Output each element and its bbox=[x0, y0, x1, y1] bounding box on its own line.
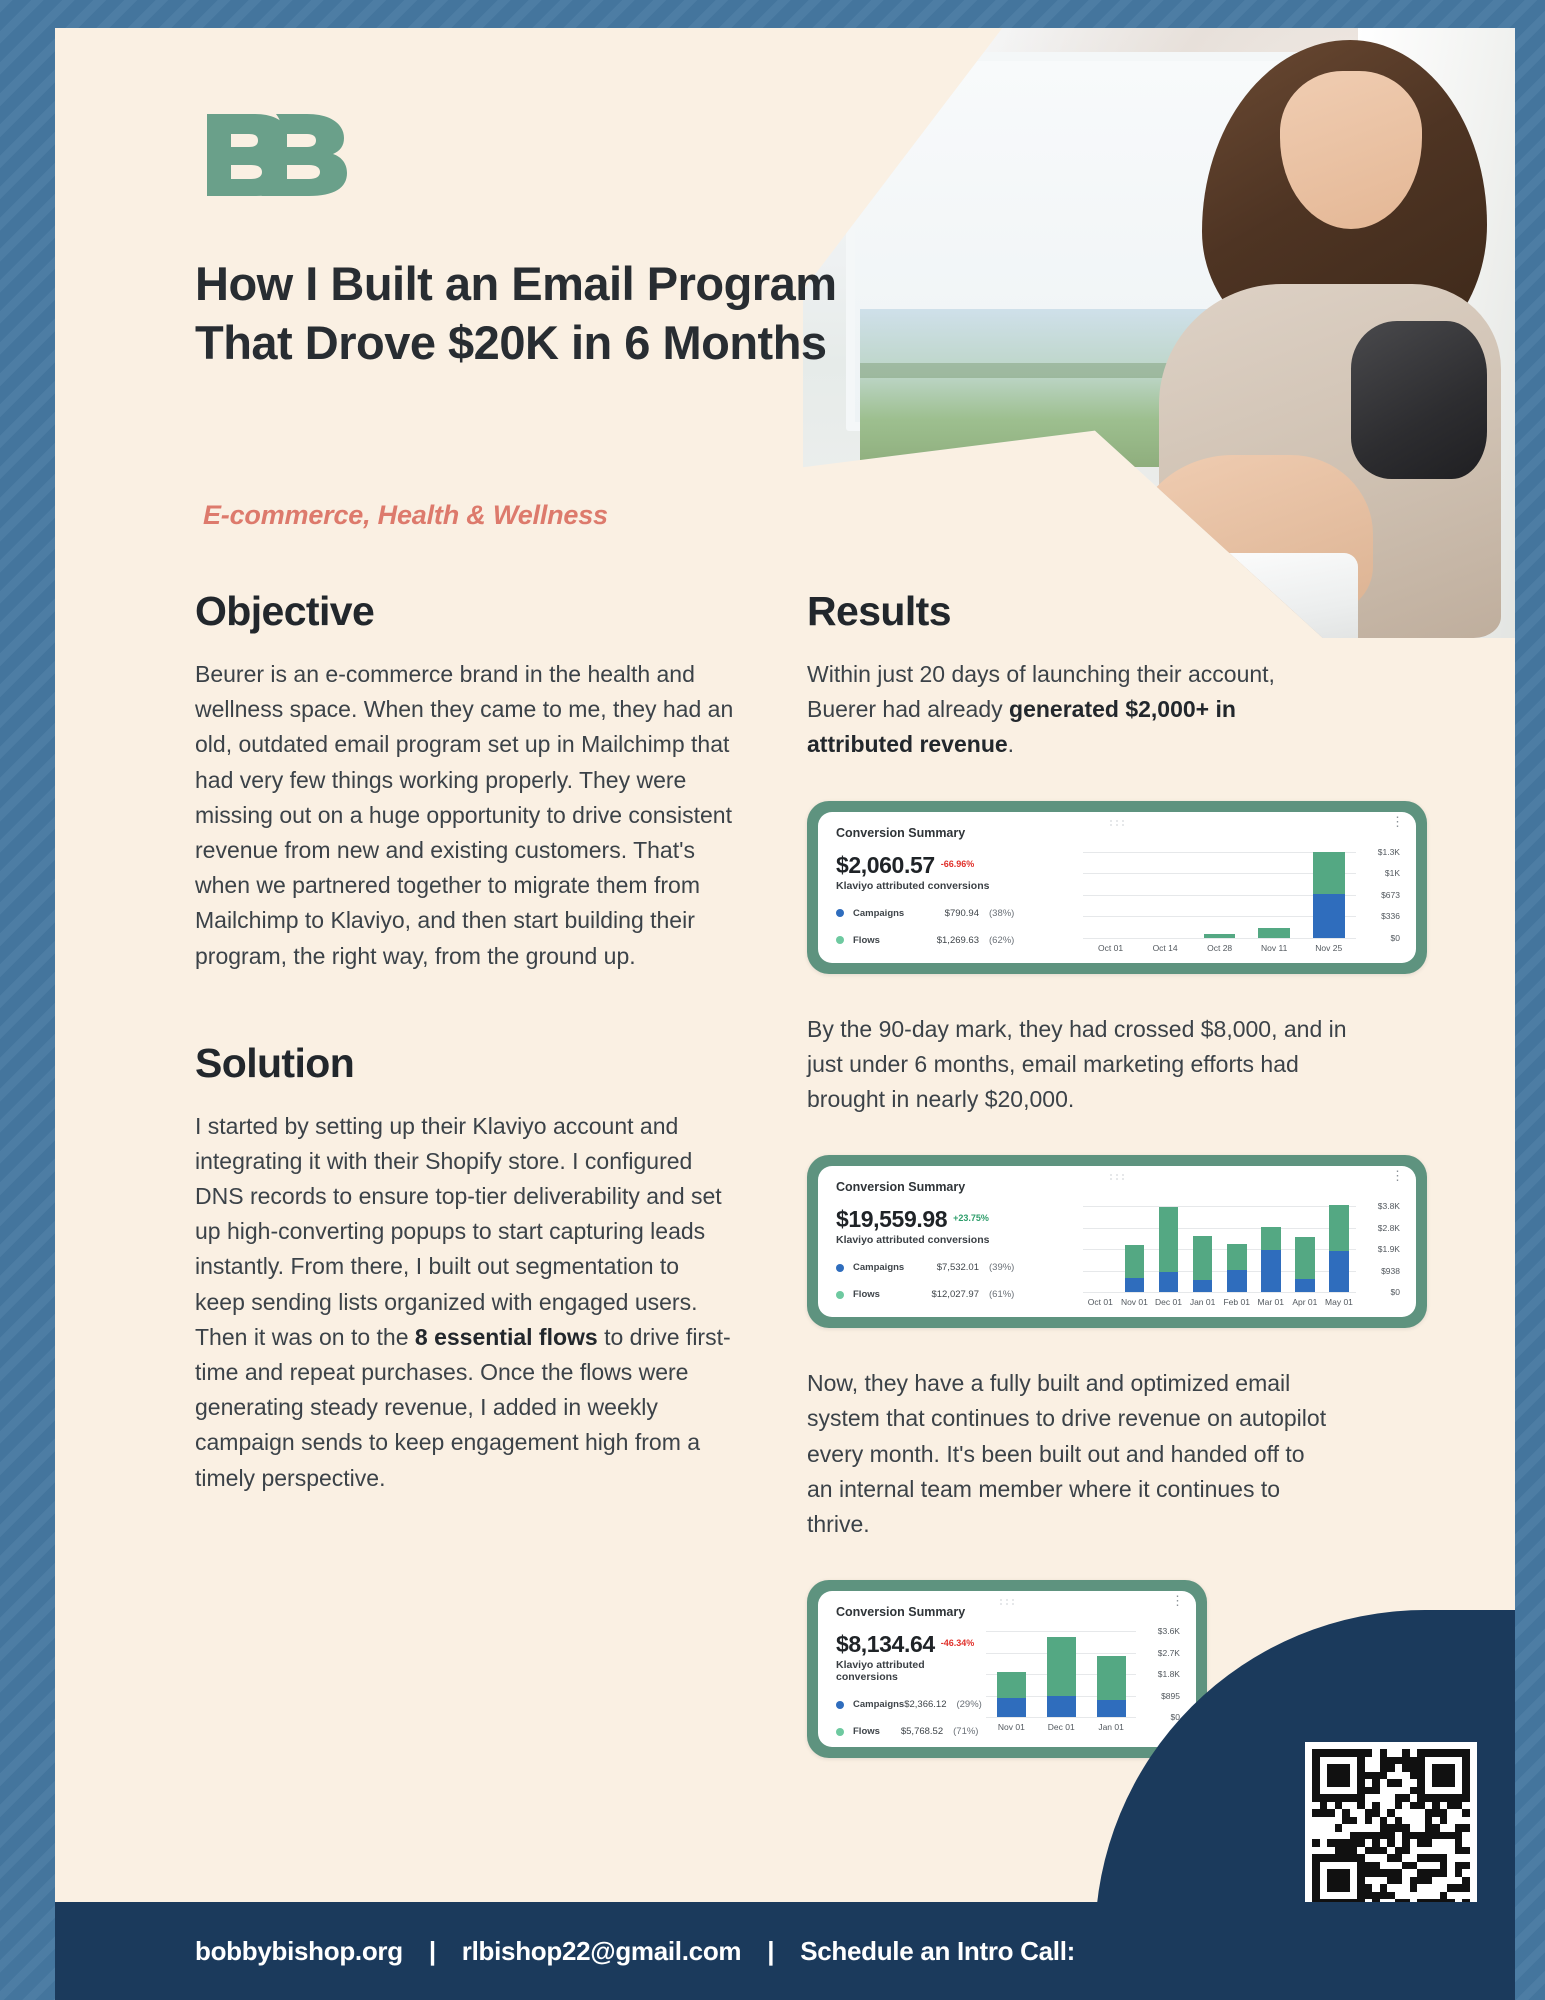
qr-cell bbox=[1342, 1749, 1350, 1757]
qr-cell bbox=[1365, 1794, 1373, 1802]
bar-segment-flows bbox=[1227, 1244, 1247, 1270]
qr-cell bbox=[1402, 1884, 1410, 1892]
qr-cell bbox=[1395, 1824, 1403, 1832]
qr-cell bbox=[1462, 1839, 1470, 1847]
legend-label-campaigns: Campaigns bbox=[853, 1699, 904, 1710]
legend-dot-campaigns-icon bbox=[836, 1701, 844, 1709]
qr-cell bbox=[1455, 1779, 1463, 1787]
qr-cell bbox=[1440, 1749, 1448, 1757]
qr-cell bbox=[1455, 1869, 1463, 1877]
qr-cell bbox=[1440, 1787, 1448, 1795]
x-axis-tick-label: Jan 01 bbox=[1086, 1722, 1136, 1732]
qr-cell bbox=[1372, 1757, 1380, 1765]
x-axis-tick-label: Apr 01 bbox=[1288, 1297, 1322, 1307]
klaviyo-card-3[interactable]: ⋮ Conversion Summary $8,134.64-46.34% Kl… bbox=[807, 1580, 1207, 1758]
qr-cell bbox=[1365, 1824, 1373, 1832]
qr-cell bbox=[1357, 1877, 1365, 1885]
legend-value-flows: $12,027.97 bbox=[917, 1289, 979, 1300]
qr-cell bbox=[1335, 1824, 1343, 1832]
bar-slot bbox=[1186, 1206, 1220, 1292]
qr-cell bbox=[1432, 1809, 1440, 1817]
y-axis-tick-label: $1.8K bbox=[1158, 1669, 1180, 1679]
footer-cta: Schedule an Intro Call: bbox=[800, 1936, 1075, 1967]
qr-cell bbox=[1335, 1832, 1343, 1840]
qr-cell bbox=[1327, 1787, 1335, 1795]
legend-dot-flows-icon bbox=[836, 936, 844, 944]
qr-cell bbox=[1402, 1772, 1410, 1780]
qr-cell bbox=[1342, 1809, 1350, 1817]
card-2-x-axis: Oct 01Nov 01Dec 01Jan 01Feb 01Mar 01Apr … bbox=[1083, 1297, 1356, 1307]
qr-cell bbox=[1455, 1749, 1463, 1757]
qr-cell bbox=[1425, 1757, 1433, 1765]
qr-cell bbox=[1425, 1847, 1433, 1855]
qr-cell bbox=[1342, 1854, 1350, 1862]
qr-cell bbox=[1425, 1817, 1433, 1825]
card-2-legend-campaigns: Campaigns $7,532.01 (39%) bbox=[836, 1262, 1075, 1273]
stacked-bar[interactable] bbox=[1227, 1244, 1247, 1292]
qr-cell bbox=[1320, 1824, 1328, 1832]
qr-cell bbox=[1417, 1802, 1425, 1810]
qr-cell bbox=[1365, 1802, 1373, 1810]
qr-cell bbox=[1312, 1854, 1320, 1862]
qr-cell bbox=[1350, 1794, 1358, 1802]
qr-cell bbox=[1417, 1749, 1425, 1757]
poster-page: How I Built an Email Program That Drove … bbox=[55, 28, 1515, 2000]
qr-cell bbox=[1350, 1862, 1358, 1870]
footer-email[interactable]: rlbishop22@gmail.com bbox=[462, 1936, 741, 1967]
bar-segment-flows bbox=[1047, 1637, 1076, 1696]
qr-cell bbox=[1402, 1869, 1410, 1877]
qr-cell bbox=[1365, 1832, 1373, 1840]
qr-cell bbox=[1335, 1802, 1343, 1810]
bar-segment-flows bbox=[997, 1672, 1026, 1699]
x-axis-tick-label: Jan 01 bbox=[1186, 1297, 1220, 1307]
qr-cell bbox=[1395, 1764, 1403, 1772]
drag-handle-icon[interactable] bbox=[1109, 819, 1125, 829]
qr-cell bbox=[1455, 1794, 1463, 1802]
qr-cell bbox=[1425, 1809, 1433, 1817]
qr-cell bbox=[1372, 1862, 1380, 1870]
qr-cell bbox=[1432, 1892, 1440, 1900]
qr-cell bbox=[1372, 1839, 1380, 1847]
qr-code-pattern bbox=[1312, 1749, 1470, 1907]
stacked-bar[interactable] bbox=[1159, 1207, 1179, 1292]
qr-cell bbox=[1350, 1884, 1358, 1892]
y-axis-tick-label: $0 bbox=[1391, 933, 1400, 943]
qr-cell bbox=[1380, 1854, 1388, 1862]
qr-cell bbox=[1342, 1802, 1350, 1810]
qr-cell bbox=[1432, 1757, 1440, 1765]
qr-cell bbox=[1327, 1764, 1335, 1772]
qr-cell bbox=[1395, 1794, 1403, 1802]
qr-cell bbox=[1425, 1787, 1433, 1795]
stacked-bar[interactable] bbox=[1258, 928, 1290, 938]
stacked-bar[interactable] bbox=[1097, 1656, 1126, 1717]
qr-cell bbox=[1357, 1764, 1365, 1772]
qr-cell bbox=[1335, 1779, 1343, 1787]
qr-cell bbox=[1447, 1802, 1455, 1810]
qr-cell bbox=[1455, 1817, 1463, 1825]
legend-label-flows: Flows bbox=[853, 1726, 899, 1737]
qr-cell bbox=[1312, 1764, 1320, 1772]
qr-cell bbox=[1417, 1772, 1425, 1780]
qr-cell bbox=[1365, 1892, 1373, 1900]
objective-body: Beurer is an e-commerce brand in the hea… bbox=[195, 657, 735, 974]
qr-cell bbox=[1462, 1869, 1470, 1877]
solution-heading: Solution bbox=[195, 1040, 735, 1087]
bar-segment-flows bbox=[1097, 1656, 1126, 1700]
qr-cell bbox=[1387, 1854, 1395, 1862]
qr-cell bbox=[1365, 1749, 1373, 1757]
qr-cell bbox=[1425, 1802, 1433, 1810]
x-axis-tick-label: Dec 01 bbox=[1151, 1297, 1185, 1307]
card-2-plot bbox=[1083, 1206, 1356, 1292]
qr-cell bbox=[1312, 1832, 1320, 1840]
qr-cell bbox=[1350, 1772, 1358, 1780]
qr-code[interactable] bbox=[1305, 1742, 1477, 1914]
qr-cell bbox=[1440, 1862, 1448, 1870]
drag-handle-icon[interactable] bbox=[999, 1598, 1015, 1608]
qr-cell bbox=[1312, 1869, 1320, 1877]
klaviyo-card-2[interactable]: ⋮ Conversion Summary $19,559.98+23.75% K… bbox=[807, 1155, 1427, 1328]
qr-cell bbox=[1417, 1884, 1425, 1892]
qr-cell bbox=[1380, 1817, 1388, 1825]
qr-cell bbox=[1410, 1824, 1418, 1832]
legend-value-flows: $1,269.63 bbox=[917, 935, 979, 946]
qr-cell bbox=[1387, 1832, 1395, 1840]
footer-bar: bobbybishop.org | rlbishop22@gmail.com |… bbox=[55, 1902, 1515, 2000]
bar-segment-campaigns bbox=[1227, 1270, 1247, 1292]
qr-cell bbox=[1380, 1787, 1388, 1795]
qr-cell bbox=[1432, 1749, 1440, 1757]
qr-cell bbox=[1327, 1779, 1335, 1787]
bar-segment-flows bbox=[1159, 1207, 1179, 1272]
qr-cell bbox=[1327, 1794, 1335, 1802]
bar-slot bbox=[1117, 1206, 1151, 1292]
qr-cell bbox=[1387, 1809, 1395, 1817]
qr-cell bbox=[1342, 1779, 1350, 1787]
legend-pct-flows: (62%) bbox=[989, 935, 1014, 946]
qr-cell bbox=[1395, 1854, 1403, 1862]
legend-value-campaigns: $2,366.12 bbox=[904, 1699, 946, 1710]
bar-slot bbox=[1254, 1206, 1288, 1292]
x-axis-tick-label: May 01 bbox=[1322, 1297, 1356, 1307]
bar-segment-flows bbox=[1193, 1236, 1213, 1280]
qr-cell bbox=[1395, 1892, 1403, 1900]
qr-cell bbox=[1342, 1817, 1350, 1825]
qr-cell bbox=[1372, 1847, 1380, 1855]
qr-cell bbox=[1440, 1817, 1448, 1825]
qr-cell bbox=[1455, 1772, 1463, 1780]
qr-cell bbox=[1320, 1802, 1328, 1810]
qr-cell bbox=[1425, 1794, 1433, 1802]
qr-cell bbox=[1350, 1869, 1358, 1877]
qr-cell bbox=[1335, 1772, 1343, 1780]
card-menu-icon[interactable]: ⋮ bbox=[1171, 1597, 1184, 1605]
bar-segment-campaigns bbox=[1193, 1280, 1213, 1292]
qr-cell bbox=[1440, 1764, 1448, 1772]
stacked-bar[interactable] bbox=[1193, 1236, 1213, 1292]
qr-cell bbox=[1312, 1877, 1320, 1885]
qr-cell bbox=[1372, 1772, 1380, 1780]
qr-cell bbox=[1455, 1839, 1463, 1847]
qr-cell bbox=[1380, 1772, 1388, 1780]
qr-cell bbox=[1410, 1854, 1418, 1862]
qr-cell bbox=[1395, 1809, 1403, 1817]
results-para-2: By the 90-day mark, they had crossed $8,… bbox=[807, 1012, 1367, 1118]
qr-cell bbox=[1395, 1832, 1403, 1840]
y-axis-tick-label: $938 bbox=[1381, 1266, 1400, 1276]
qr-cell bbox=[1410, 1884, 1418, 1892]
qr-cell bbox=[1425, 1779, 1433, 1787]
stacked-bar[interactable] bbox=[1125, 1245, 1145, 1292]
qr-cell bbox=[1410, 1839, 1418, 1847]
legend-dot-flows-icon bbox=[836, 1728, 844, 1736]
qr-cell bbox=[1372, 1824, 1380, 1832]
klaviyo-card-1[interactable]: ⋮ Conversion Summary $2,060.57-66.96% Kl… bbox=[807, 801, 1427, 974]
qr-cell bbox=[1410, 1832, 1418, 1840]
qr-cell bbox=[1410, 1892, 1418, 1900]
y-axis-tick-label: $2.7K bbox=[1158, 1648, 1180, 1658]
qr-cell bbox=[1387, 1779, 1395, 1787]
stacked-bar[interactable] bbox=[1313, 852, 1345, 938]
qr-cell bbox=[1350, 1847, 1358, 1855]
qr-cell bbox=[1395, 1839, 1403, 1847]
qr-cell bbox=[1425, 1862, 1433, 1870]
qr-cell bbox=[1350, 1854, 1358, 1862]
y-axis-tick-label: $0 bbox=[1391, 1287, 1400, 1297]
footer-separator-2: | bbox=[767, 1936, 774, 1967]
qr-cell bbox=[1387, 1772, 1395, 1780]
qr-cell bbox=[1327, 1824, 1335, 1832]
qr-cell bbox=[1440, 1892, 1448, 1900]
qr-cell bbox=[1320, 1779, 1328, 1787]
qr-cell bbox=[1372, 1884, 1380, 1892]
qr-cell bbox=[1402, 1817, 1410, 1825]
qr-cell bbox=[1365, 1839, 1373, 1847]
y-axis-tick-label: $895 bbox=[1161, 1691, 1180, 1701]
qr-cell bbox=[1380, 1794, 1388, 1802]
qr-cell bbox=[1342, 1847, 1350, 1855]
stacked-bar[interactable] bbox=[1329, 1205, 1349, 1292]
qr-cell bbox=[1402, 1757, 1410, 1765]
qr-cell bbox=[1357, 1824, 1365, 1832]
qr-cell bbox=[1410, 1802, 1418, 1810]
qr-cell bbox=[1402, 1779, 1410, 1787]
qr-cell bbox=[1425, 1839, 1433, 1847]
qr-cell bbox=[1417, 1869, 1425, 1877]
card-menu-icon[interactable]: ⋮ bbox=[1391, 1172, 1404, 1180]
qr-cell bbox=[1380, 1862, 1388, 1870]
qr-cell bbox=[1410, 1817, 1418, 1825]
qr-cell bbox=[1387, 1847, 1395, 1855]
solution-body-bold: 8 essential flows bbox=[415, 1324, 598, 1350]
qr-cell bbox=[1320, 1862, 1328, 1870]
bar-segment-flows bbox=[1258, 928, 1290, 938]
bar-segment-flows bbox=[1261, 1227, 1281, 1250]
qr-cell bbox=[1395, 1779, 1403, 1787]
qr-cell bbox=[1327, 1839, 1335, 1847]
card-1-subtitle: Klaviyo attributed conversions bbox=[836, 880, 1075, 892]
card-1-x-axis: Oct 01Oct 14Oct 28Nov 11Nov 25 bbox=[1083, 943, 1356, 953]
qr-cell bbox=[1350, 1832, 1358, 1840]
qr-cell bbox=[1432, 1877, 1440, 1885]
qr-cell bbox=[1335, 1862, 1343, 1870]
stacked-bar[interactable] bbox=[1204, 934, 1236, 938]
legend-label-flows: Flows bbox=[853, 1289, 917, 1300]
qr-cell bbox=[1312, 1892, 1320, 1900]
x-axis-tick-label: Nov 25 bbox=[1301, 943, 1356, 953]
qr-cell bbox=[1357, 1862, 1365, 1870]
qr-cell bbox=[1327, 1757, 1335, 1765]
bar-slot bbox=[1301, 852, 1356, 938]
qr-cell bbox=[1380, 1839, 1388, 1847]
page-subtitle: E-commerce, Health & Wellness bbox=[203, 500, 843, 531]
y-axis-tick-label: $1K bbox=[1385, 868, 1400, 878]
qr-cell bbox=[1342, 1884, 1350, 1892]
qr-cell bbox=[1380, 1779, 1388, 1787]
qr-cell bbox=[1335, 1817, 1343, 1825]
qr-cell bbox=[1440, 1809, 1448, 1817]
legend-value-flows: $5,768.52 bbox=[899, 1726, 943, 1737]
qr-cell bbox=[1395, 1884, 1403, 1892]
qr-cell bbox=[1342, 1757, 1350, 1765]
qr-cell bbox=[1357, 1794, 1365, 1802]
qr-cell bbox=[1402, 1862, 1410, 1870]
qr-cell bbox=[1395, 1749, 1403, 1757]
qr-cell bbox=[1350, 1817, 1358, 1825]
solution-body-part1: I started by setting up their Klaviyo ac… bbox=[195, 1113, 722, 1350]
qr-cell bbox=[1440, 1884, 1448, 1892]
qr-cell bbox=[1395, 1787, 1403, 1795]
stacked-bar[interactable] bbox=[1261, 1227, 1281, 1292]
legend-value-campaigns: $790.94 bbox=[917, 908, 979, 919]
qr-cell bbox=[1432, 1862, 1440, 1870]
qr-cell bbox=[1395, 1772, 1403, 1780]
stacked-bar[interactable] bbox=[1047, 1637, 1076, 1717]
right-column: Results Within just 20 days of launching… bbox=[807, 588, 1427, 1758]
qr-cell bbox=[1455, 1787, 1463, 1795]
card-3-delta: -46.34% bbox=[941, 1638, 975, 1648]
card-menu-icon[interactable]: ⋮ bbox=[1391, 818, 1404, 826]
qr-cell bbox=[1350, 1787, 1358, 1795]
qr-cell bbox=[1417, 1832, 1425, 1840]
qr-cell bbox=[1417, 1757, 1425, 1765]
qr-cell bbox=[1380, 1802, 1388, 1810]
qr-cell bbox=[1320, 1884, 1328, 1892]
qr-cell bbox=[1402, 1787, 1410, 1795]
left-column: Objective Beurer is an e-commerce brand … bbox=[195, 588, 735, 1496]
qr-cell bbox=[1387, 1884, 1395, 1892]
qr-cell bbox=[1320, 1877, 1328, 1885]
qr-cell bbox=[1365, 1764, 1373, 1772]
card-1-summary: $2,060.57-66.96% Klaviyo attributed conv… bbox=[836, 852, 1083, 946]
stacked-bar[interactable] bbox=[1295, 1237, 1315, 1292]
qr-cell bbox=[1425, 1869, 1433, 1877]
bar-group bbox=[1083, 852, 1356, 938]
qr-cell bbox=[1335, 1854, 1343, 1862]
qr-cell bbox=[1320, 1787, 1328, 1795]
legend-value-campaigns: $7,532.01 bbox=[917, 1262, 979, 1273]
hero-photo bbox=[803, 28, 1515, 638]
card-1-legend-campaigns: Campaigns $790.94 (38%) bbox=[836, 908, 1075, 919]
bb-logo-icon bbox=[195, 108, 355, 208]
klaviyo-card-3-inner: ⋮ Conversion Summary $8,134.64-46.34% Kl… bbox=[818, 1591, 1196, 1747]
qr-cell bbox=[1327, 1869, 1335, 1877]
bar-segment-flows bbox=[1125, 1245, 1145, 1278]
qr-cell bbox=[1402, 1794, 1410, 1802]
qr-cell bbox=[1380, 1749, 1388, 1757]
qr-cell bbox=[1342, 1794, 1350, 1802]
qr-cell bbox=[1440, 1802, 1448, 1810]
qr-cell bbox=[1335, 1839, 1343, 1847]
qr-cell bbox=[1447, 1809, 1455, 1817]
qr-cell bbox=[1365, 1757, 1373, 1765]
x-axis-tick-label: Oct 01 bbox=[1083, 943, 1138, 953]
qr-cell bbox=[1312, 1787, 1320, 1795]
qr-cell bbox=[1410, 1779, 1418, 1787]
qr-cell bbox=[1440, 1779, 1448, 1787]
klaviyo-card-1-inner: ⋮ Conversion Summary $2,060.57-66.96% Kl… bbox=[818, 812, 1416, 963]
qr-cell bbox=[1402, 1802, 1410, 1810]
bar-slot bbox=[1083, 852, 1138, 938]
bar-group bbox=[1083, 1206, 1356, 1292]
legend-pct-flows: (71%) bbox=[953, 1726, 978, 1737]
drag-handle-icon[interactable] bbox=[1109, 1173, 1125, 1183]
stacked-bar[interactable] bbox=[997, 1672, 1026, 1717]
x-axis-tick-label: Mar 01 bbox=[1254, 1297, 1288, 1307]
qr-cell bbox=[1335, 1847, 1343, 1855]
qr-cell bbox=[1320, 1794, 1328, 1802]
qr-cell bbox=[1387, 1757, 1395, 1765]
qr-cell bbox=[1462, 1824, 1470, 1832]
qr-cell bbox=[1425, 1749, 1433, 1757]
qr-cell bbox=[1372, 1892, 1380, 1900]
x-axis-tick-label: Feb 01 bbox=[1220, 1297, 1254, 1307]
qr-cell bbox=[1357, 1772, 1365, 1780]
bar-slot bbox=[1086, 1631, 1136, 1717]
qr-cell bbox=[1350, 1749, 1358, 1757]
qr-cell bbox=[1432, 1884, 1440, 1892]
bar-slot bbox=[1247, 852, 1302, 938]
qr-cell bbox=[1327, 1817, 1335, 1825]
qr-cell bbox=[1365, 1877, 1373, 1885]
qr-cell bbox=[1462, 1809, 1470, 1817]
qr-cell bbox=[1417, 1877, 1425, 1885]
x-axis-tick-label: Oct 01 bbox=[1083, 1297, 1117, 1307]
qr-cell bbox=[1320, 1869, 1328, 1877]
qr-cell bbox=[1320, 1772, 1328, 1780]
bar-slot bbox=[1151, 1206, 1185, 1292]
qr-cell bbox=[1357, 1847, 1365, 1855]
card-1-delta: -66.96% bbox=[941, 859, 975, 869]
qr-cell bbox=[1402, 1854, 1410, 1862]
qr-cell bbox=[1447, 1832, 1455, 1840]
card-3-total: $8,134.64 bbox=[836, 1631, 935, 1658]
qr-cell bbox=[1440, 1794, 1448, 1802]
qr-cell bbox=[1432, 1787, 1440, 1795]
bar-segment-campaigns bbox=[1313, 894, 1345, 938]
x-axis-tick-label: Nov 01 bbox=[1117, 1297, 1151, 1307]
qr-cell bbox=[1440, 1839, 1448, 1847]
qr-cell bbox=[1342, 1764, 1350, 1772]
qr-cell bbox=[1365, 1787, 1373, 1795]
qr-cell bbox=[1380, 1764, 1388, 1772]
footer-website[interactable]: bobbybishop.org bbox=[195, 1936, 403, 1967]
qr-cell bbox=[1402, 1809, 1410, 1817]
qr-cell bbox=[1365, 1817, 1373, 1825]
qr-cell bbox=[1462, 1817, 1470, 1825]
